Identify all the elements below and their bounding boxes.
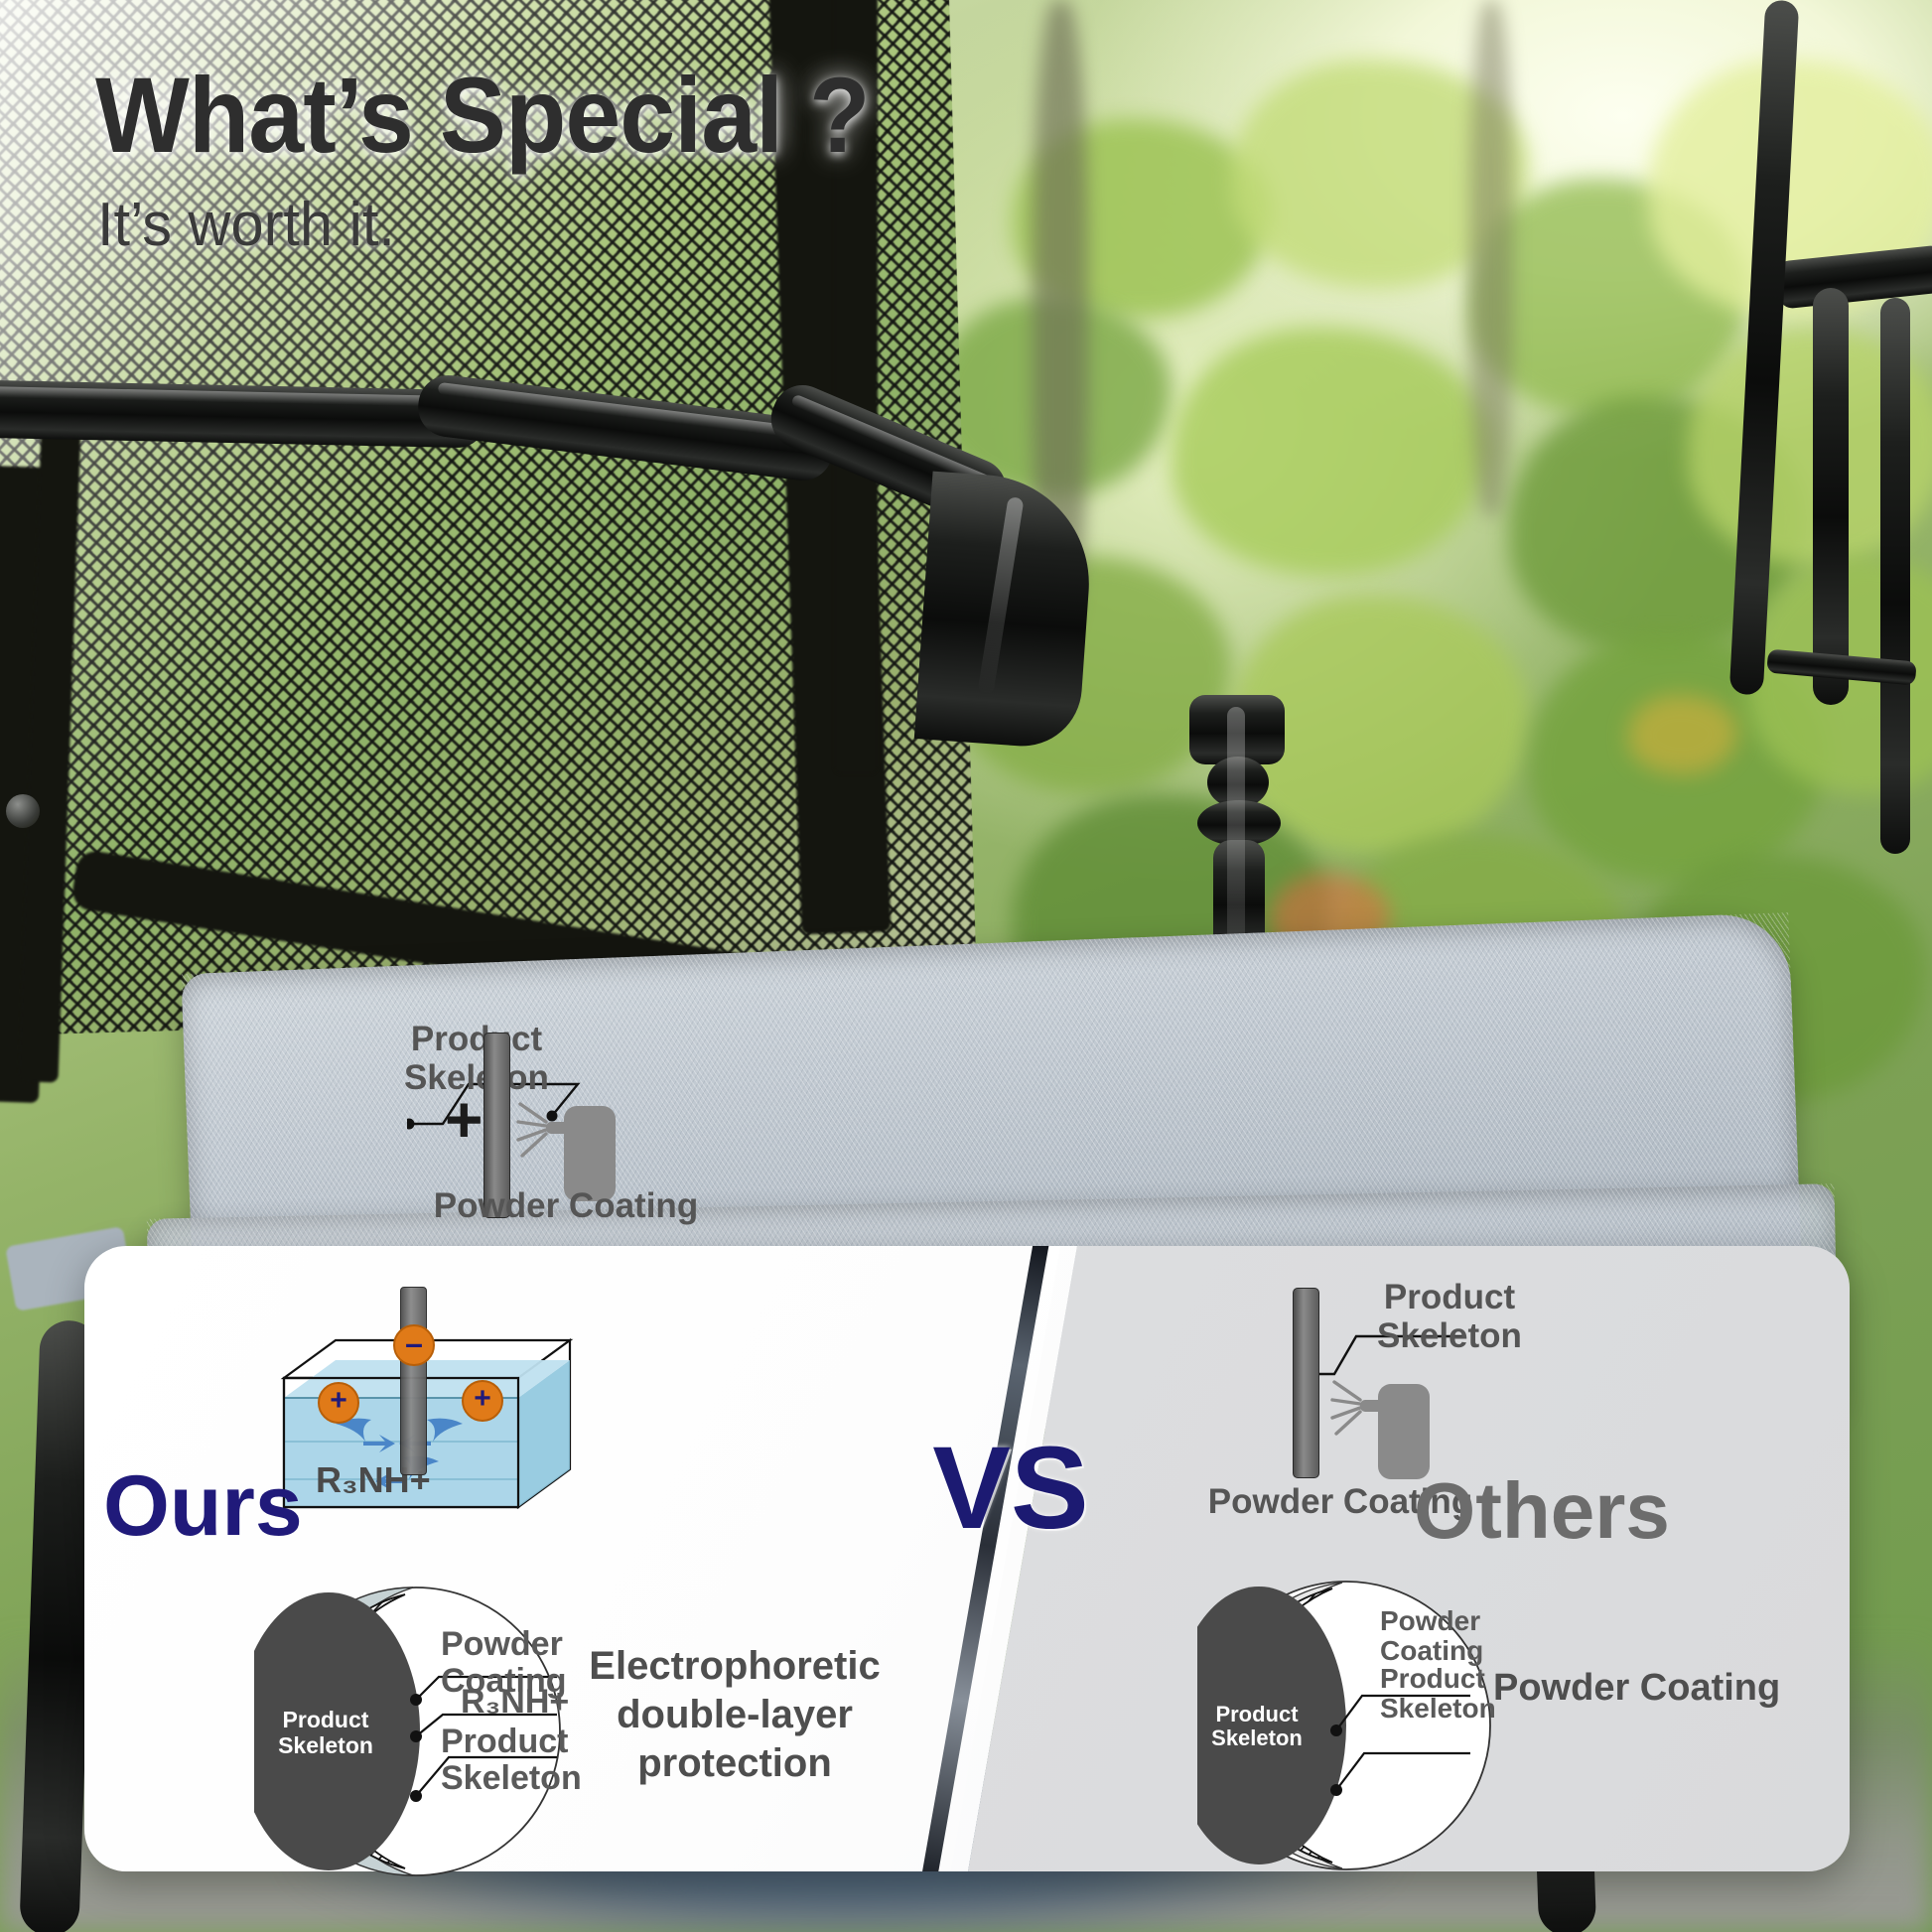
others-summary-text: Powder Coating [1493, 1666, 1910, 1712]
others-product-rod [1293, 1288, 1319, 1478]
foliage-blob [1172, 328, 1489, 576]
poster-canvas: What’s Special ? It’s worth it. R₃NH+ [0, 0, 1932, 1932]
others-label: Others [1414, 1471, 1670, 1551]
callout-line-2: Coating [1380, 1635, 1483, 1666]
background-chair-leg [1880, 298, 1910, 854]
tree-trunk [1469, 0, 1513, 516]
page-subtitle: It’s worth it. [97, 195, 395, 256]
page-title: What’s Special ? [95, 62, 870, 169]
caption-line-2: Skeleton [1377, 1316, 1522, 1355]
plus-separator: + [445, 1086, 483, 1152]
left-powder-coating-caption: Powder Coating [427, 1187, 705, 1226]
frame-rivet [6, 794, 40, 828]
summary-line-1: Electrophoretic [589, 1644, 880, 1688]
callout-line-2: Skeleton [1380, 1693, 1496, 1724]
right-product-skeleton-caption: Product Skeleton [1330, 1279, 1569, 1355]
cathode-rod [400, 1287, 427, 1475]
foliage-blob [1628, 695, 1737, 774]
svg-text:Skeleton: Skeleton [1211, 1725, 1303, 1750]
summary-line-2: double-layer protection [617, 1693, 853, 1785]
ours-summary-text: Electrophoretic double-layer protection [556, 1642, 913, 1787]
svg-text:Skeleton: Skeleton [278, 1732, 373, 1758]
cathode-charge-badge: – [393, 1324, 435, 1366]
others-callout-powder-coating: Powder Coating [1380, 1606, 1559, 1666]
callout-line-1: Powder [1380, 1605, 1480, 1636]
anode-charge-badge: + [462, 1380, 503, 1422]
ours-label: Ours [103, 1463, 303, 1549]
caption-line-1: Product [1384, 1278, 1515, 1316]
callout-line-1: Product [441, 1723, 568, 1760]
anode-charge-badge: + [318, 1382, 359, 1424]
callout-line-1: Powder [441, 1625, 563, 1663]
svg-text:Product: Product [1215, 1702, 1299, 1726]
vs-badge: VS [901, 1430, 1120, 1547]
svg-text:Product: Product [283, 1707, 369, 1732]
background-chair-leg [1813, 288, 1849, 705]
callout-line-1: Product [1380, 1663, 1485, 1694]
caption-line-1: Product [411, 1020, 542, 1058]
